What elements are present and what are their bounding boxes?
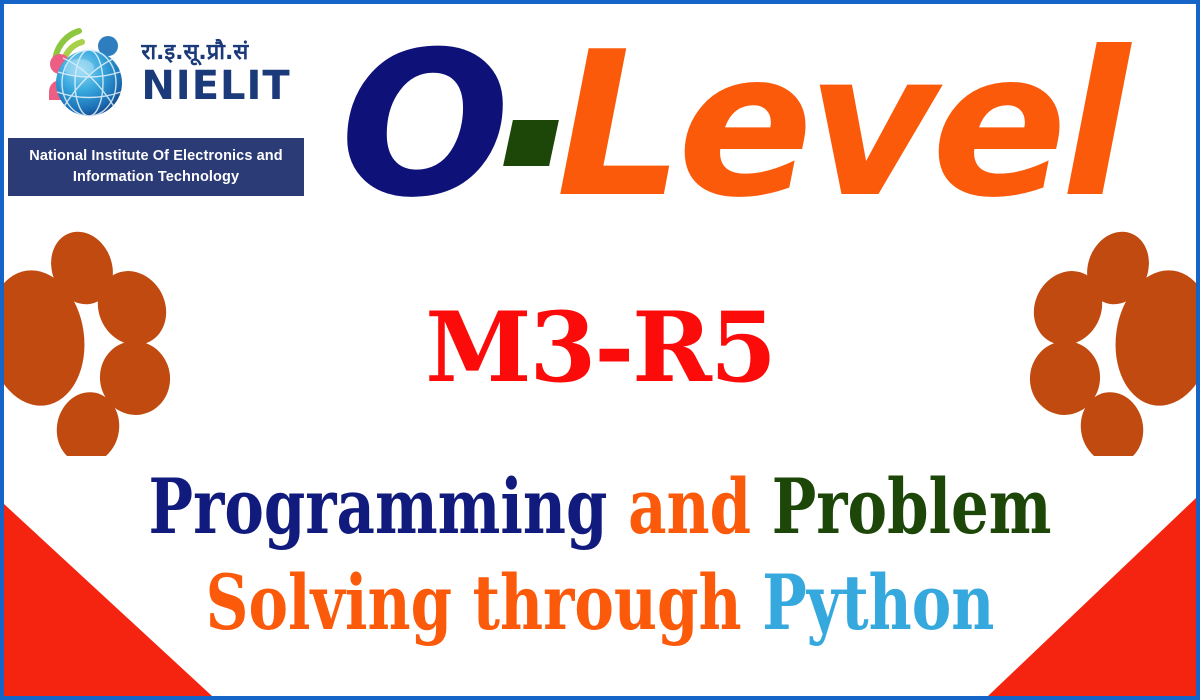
subtitle-word-and: and — [628, 462, 751, 551]
institute-name-line-1: National Institute Of Electronics and — [12, 146, 300, 167]
logo-acronym-text: NIELIT — [141, 66, 290, 106]
subtitle-word-python: Python — [762, 558, 994, 647]
logo-row: रा.इ.सू.प्रौ.सं NIELIT — [8, 20, 308, 124]
subtitle-line-1: Programming and Problem — [135, 466, 1065, 548]
subtitle-line-2: Solving through Python — [135, 562, 1065, 644]
institute-name-band: National Institute Of Electronics and In… — [8, 138, 304, 196]
subtitle-word-solving-through: Solving through — [206, 558, 742, 647]
title-level-letter: O — [340, 9, 506, 242]
subtitle-block: Programming and Problem Solving through … — [4, 466, 1196, 644]
nielit-logo-block: रा.इ.सू.प्रौ.सं NIELIT National Institut… — [8, 20, 308, 196]
subtitle-word-problem: Problem — [772, 462, 1052, 551]
nielit-globe-logo-icon — [39, 20, 135, 124]
title-level-word: Level — [556, 9, 1124, 242]
poster-canvas: रा.इ.सू.प्रौ.सं NIELIT National Institut… — [0, 0, 1200, 700]
title-separator-square — [503, 120, 559, 166]
page-title: OLevel — [340, 26, 1124, 226]
module-code: M3-R5 — [4, 300, 1196, 396]
logo-hindi-text: रा.इ.सू.प्रौ.सं — [141, 42, 248, 64]
subtitle-word-programming: Programming — [149, 462, 608, 551]
institute-name-line-2: Information Technology — [12, 167, 300, 188]
logo-wordmark: रा.इ.सू.प्रौ.सं NIELIT — [141, 38, 290, 106]
